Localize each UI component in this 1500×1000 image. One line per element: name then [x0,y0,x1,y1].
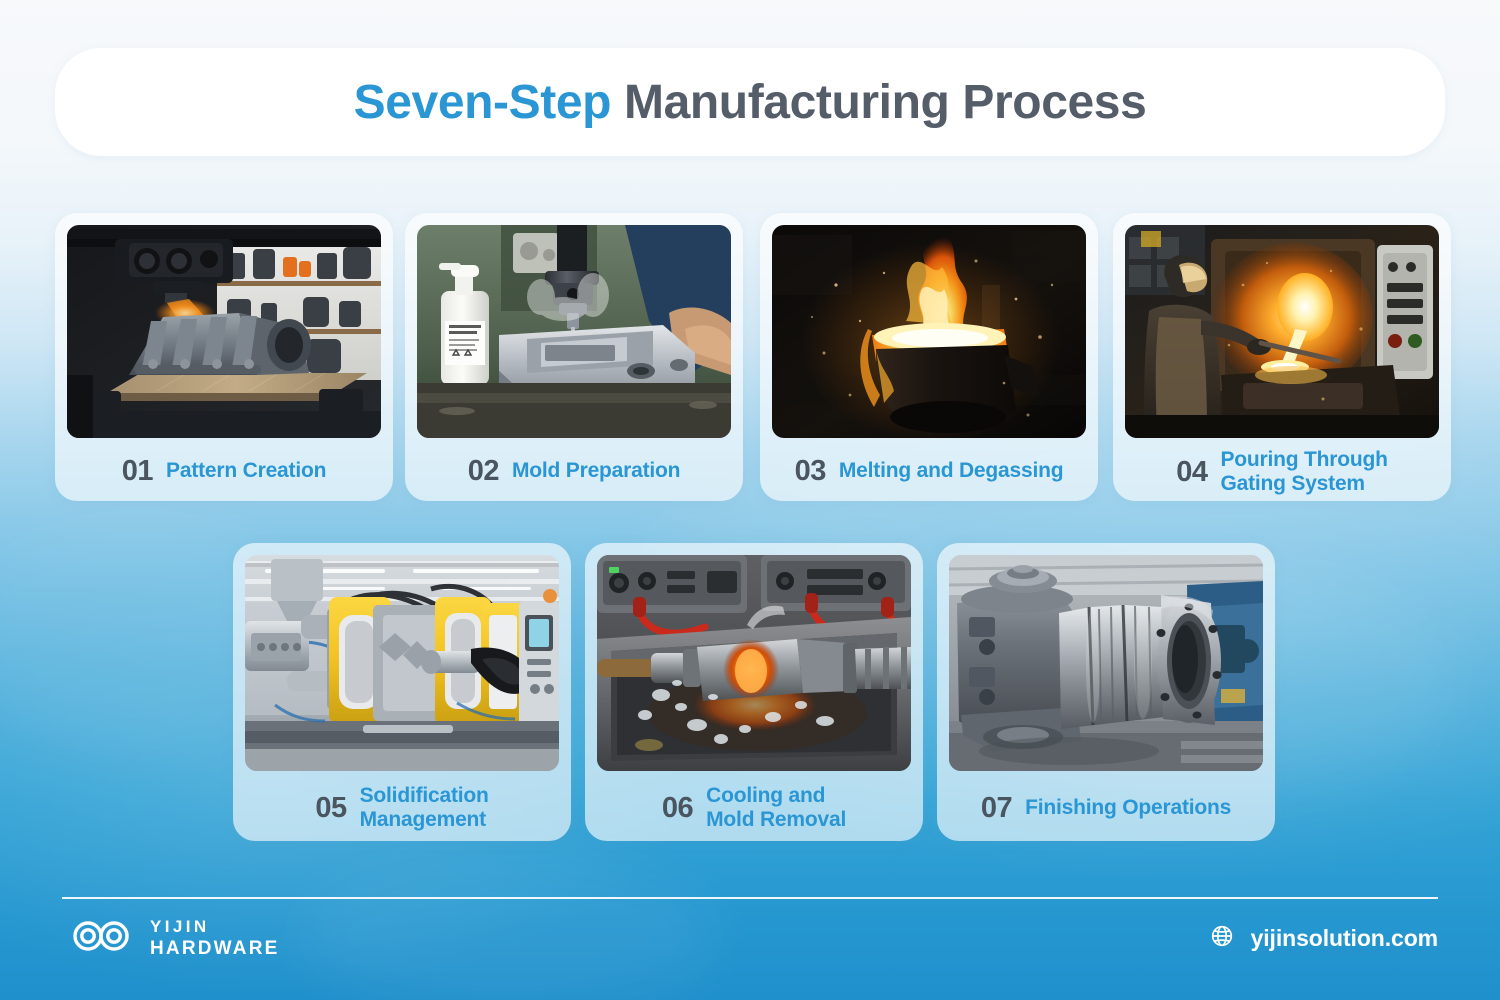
brand-line-1: YIJIN [150,918,280,935]
step-label-line2: Mold Removal [706,808,846,832]
step-label-line1: Melting and Degassing [839,459,1064,482]
title-banner: Seven-Step Manufacturing Process [55,48,1445,156]
step-label-line1: Pattern Creation [166,459,326,482]
step-image-foundry-pouring [1125,225,1439,438]
step-number: 04 [1176,458,1207,487]
step-label: Melting and Degassing [839,459,1064,483]
step-caption: 03 Melting and Degassing [772,438,1086,501]
step-caption: 06 Cooling and Mold Removal [597,771,911,841]
step-label-line2: Management [360,808,489,832]
step-number: 01 [122,457,153,486]
yijin-infinity-logo-icon [70,919,136,958]
step-card-06[interactable]: 06 Cooling and Mold Removal [585,543,923,841]
step-label-line1: Finishing Operations [1025,796,1231,819]
step-caption: 04 Pouring Through Gating System [1125,438,1439,503]
step-label-line1: Pouring Through [1220,448,1387,471]
brand-line-2: HARDWARE [150,939,280,958]
step-number: 07 [981,794,1012,823]
step-label: Solidification Management [360,784,489,833]
step-image-injection-molding-machine [245,555,559,771]
page-title-accent: Seven-Step [354,76,611,129]
step-label: Pouring Through Gating System [1220,448,1387,497]
footer-divider [62,897,1438,899]
footer-website[interactable]: yijinsolution.com [1210,924,1438,953]
step-caption: 02 Mold Preparation [417,438,731,501]
step-label: Cooling and Mold Removal [706,784,846,833]
step-label-line1: Mold Preparation [512,459,680,482]
infographic-canvas: Seven-Step Manufacturing Process [0,0,1500,1000]
step-card-04[interactable]: 04 Pouring Through Gating System [1113,213,1451,501]
step-label-line2: Gating System [1220,472,1387,496]
globe-icon [1210,924,1234,953]
step-image-molten-metal-crucible [772,225,1086,438]
step-label-line1: Cooling and [706,784,825,807]
step-image-3d-printer-pattern [67,225,381,438]
page-title: Seven-Step Manufacturing Process [354,75,1147,130]
step-label: Pattern Creation [166,459,326,483]
step-card-01[interactable]: 01 Pattern Creation [55,213,393,501]
step-card-03[interactable]: 03 Melting and Degassing [760,213,1098,501]
footer-brand[interactable]: YIJIN HARDWARE [70,918,280,958]
brand-wordmark: YIJIN HARDWARE [150,918,280,958]
step-number: 05 [315,794,346,823]
step-label-line1: Solidification [360,784,489,807]
step-card-05[interactable]: 05 Solidification Management [233,543,571,841]
step-number: 02 [468,457,499,486]
step-number: 06 [662,794,693,823]
step-image-quenching-bath [597,555,911,771]
background-blob [300,860,720,1000]
step-card-07[interactable]: 07 Finishing Operations [937,543,1275,841]
step-label: Finishing Operations [1025,796,1231,820]
step-image-cnc-mold-machining [417,225,731,438]
page-title-main: Manufacturing Process [611,76,1146,129]
step-label: Mold Preparation [512,459,680,483]
step-caption: 07 Finishing Operations [949,771,1263,841]
step-card-02[interactable]: 02 Mold Preparation [405,213,743,501]
step-caption: 05 Solidification Management [245,771,559,841]
step-number: 03 [795,457,826,486]
step-image-finished-valve-body [949,555,1263,771]
step-caption: 01 Pattern Creation [67,438,381,501]
site-url-label[interactable]: yijinsolution.com [1251,925,1438,952]
